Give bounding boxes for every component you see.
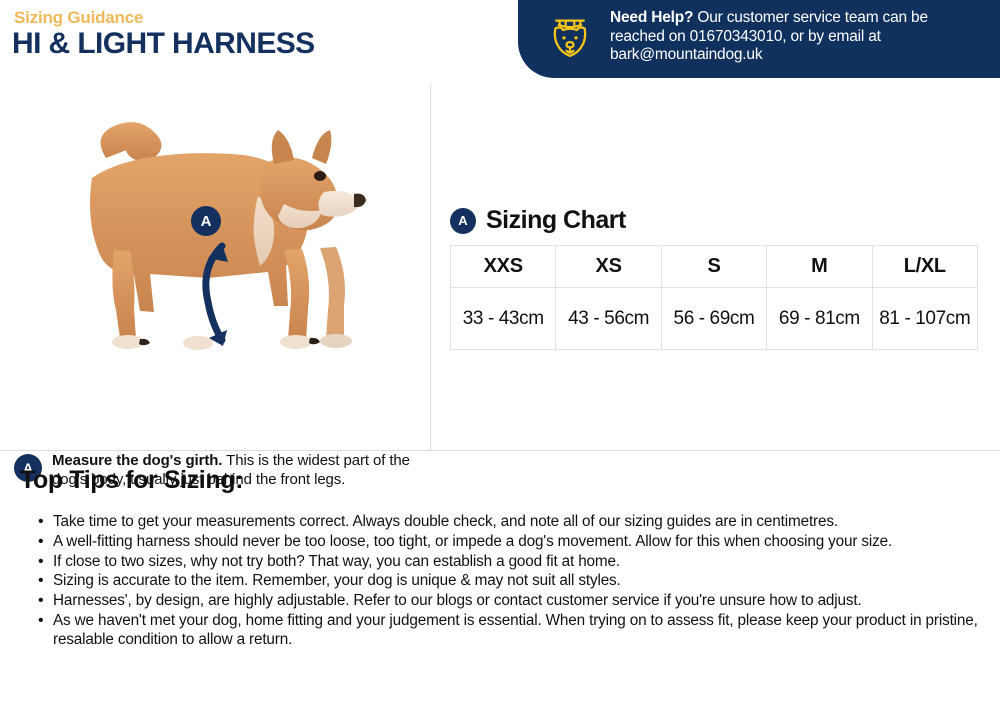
top-tips-section: Top Tips for Sizing: Take time to get yo… <box>20 466 986 651</box>
table-header-row: XXSXSSML/XL <box>451 246 978 288</box>
help-banner: Need Help? Our customer service team can… <box>518 0 1000 78</box>
help-text: Need Help? Our customer service team can… <box>610 9 986 66</box>
table-cell-girth-range: 56 - 69cm <box>661 288 766 350</box>
top-tip-item: Sizing is accurate to the item. Remember… <box>20 572 986 591</box>
girth-arrow-icon <box>180 224 250 364</box>
table-column-header-s: S <box>661 246 766 288</box>
sizing-chart-panel: A Sizing Chart XXSXSSML/XL 33 - 43cm43 -… <box>450 206 990 350</box>
page-title: HI & LIGHT HARNESS <box>12 27 315 61</box>
top-tips-list: Take time to get your measurements corre… <box>20 513 986 650</box>
top-tip-item: Take time to get your measurements corre… <box>20 513 986 532</box>
table-column-header-l-xl: L/XL <box>872 246 977 288</box>
top-tip-item: Harnesses', by design, are highly adjust… <box>20 592 986 611</box>
top-tips-title: Top Tips for Sizing: <box>20 466 986 495</box>
table-column-header-xxs: XXS <box>451 246 556 288</box>
top-tip-item: As we haven't met your dog, home fitting… <box>20 612 986 650</box>
horizontal-divider <box>0 450 1000 451</box>
help-lead: Need Help? <box>610 9 693 26</box>
girth-marker-badge: A <box>191 206 221 236</box>
sizing-chart-title: Sizing Chart <box>486 206 626 235</box>
table-cell-girth-range: 81 - 107cm <box>872 288 977 350</box>
page-eyebrow: Sizing Guidance <box>14 8 143 28</box>
dog-head-logo-icon <box>544 12 596 62</box>
table-cell-girth-range: 33 - 43cm <box>451 288 556 350</box>
illustration-panel: A A Measure the dog's girth. This is the… <box>0 84 430 450</box>
sizing-chart-badge: A <box>450 208 476 234</box>
sizing-chart-table: XXSXSSML/XL 33 - 43cm43 - 56cm56 - 69cm6… <box>450 245 978 350</box>
sizing-chart-header: A Sizing Chart <box>450 206 990 235</box>
top-tip-item: If close to two sizes, why not try both?… <box>20 553 986 572</box>
table-column-header-m: M <box>767 246 872 288</box>
table-row: 33 - 43cm43 - 56cm56 - 69cm69 - 81cm81 -… <box>451 288 978 350</box>
top-tip-item: A well-fitting harness should never be t… <box>20 533 986 552</box>
vertical-divider <box>430 84 431 450</box>
sizing-guide-page: Sizing Guidance HI & LIGHT HARNESS Need <box>0 0 1000 720</box>
table-body: 33 - 43cm43 - 56cm56 - 69cm69 - 81cm81 -… <box>451 288 978 350</box>
table-cell-girth-range: 69 - 81cm <box>767 288 872 350</box>
table-column-header-xs: XS <box>556 246 661 288</box>
table-cell-girth-range: 43 - 56cm <box>556 288 661 350</box>
